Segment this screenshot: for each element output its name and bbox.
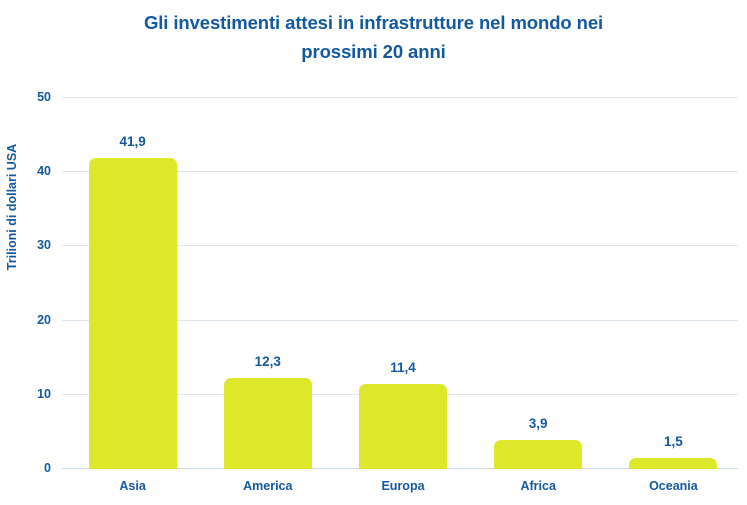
bar-value-america: 12,3 (255, 354, 281, 369)
x-tick-label-oceania: Oceania (649, 479, 698, 493)
y-tick-label-40: 40 (37, 164, 51, 178)
x-tick-label-africa: Africa (520, 479, 555, 493)
bar-asia[interactable] (89, 158, 177, 469)
bar-value-europa: 11,4 (390, 360, 416, 375)
x-tick-label-america: America (243, 479, 292, 493)
bar-group-europa: 11,4Europa (359, 98, 447, 469)
x-tick-label-asia: Asia (119, 479, 145, 493)
chart-title: Gli investimenti attesi in infrastruttur… (70, 8, 677, 66)
bar-group-asia: 41,9Asia (89, 98, 177, 469)
x-tick-label-europa: Europa (381, 479, 424, 493)
y-tick-label-0: 0 (44, 461, 51, 475)
y-tick-label-10: 10 (37, 387, 51, 401)
y-tick-label-20: 20 (37, 313, 51, 327)
bar-group-america: 12,3America (224, 98, 312, 469)
bar-group-oceania: 1,5Oceania (629, 98, 717, 469)
bar-america[interactable] (224, 378, 312, 469)
chart-title-line-2: prossimi 20 anni (70, 37, 677, 66)
y-tick-label-50: 50 (37, 90, 51, 104)
bar-group-africa: 3,9Africa (494, 98, 582, 469)
bar-value-africa: 3,9 (529, 416, 548, 431)
bar-oceania[interactable] (629, 458, 717, 469)
bar-europa[interactable] (359, 384, 447, 469)
y-axis-title: Trilioni di dollari USA (5, 142, 19, 272)
y-tick-label-30: 30 (37, 238, 51, 252)
plot-area: 0102030405041,9Asia12,3America11,4Europa… (62, 98, 738, 469)
bar-africa[interactable] (494, 440, 582, 469)
bar-value-oceania: 1,5 (664, 434, 683, 449)
chart-title-line-1: Gli investimenti attesi in infrastruttur… (70, 8, 677, 37)
bar-value-asia: 41,9 (119, 134, 145, 149)
